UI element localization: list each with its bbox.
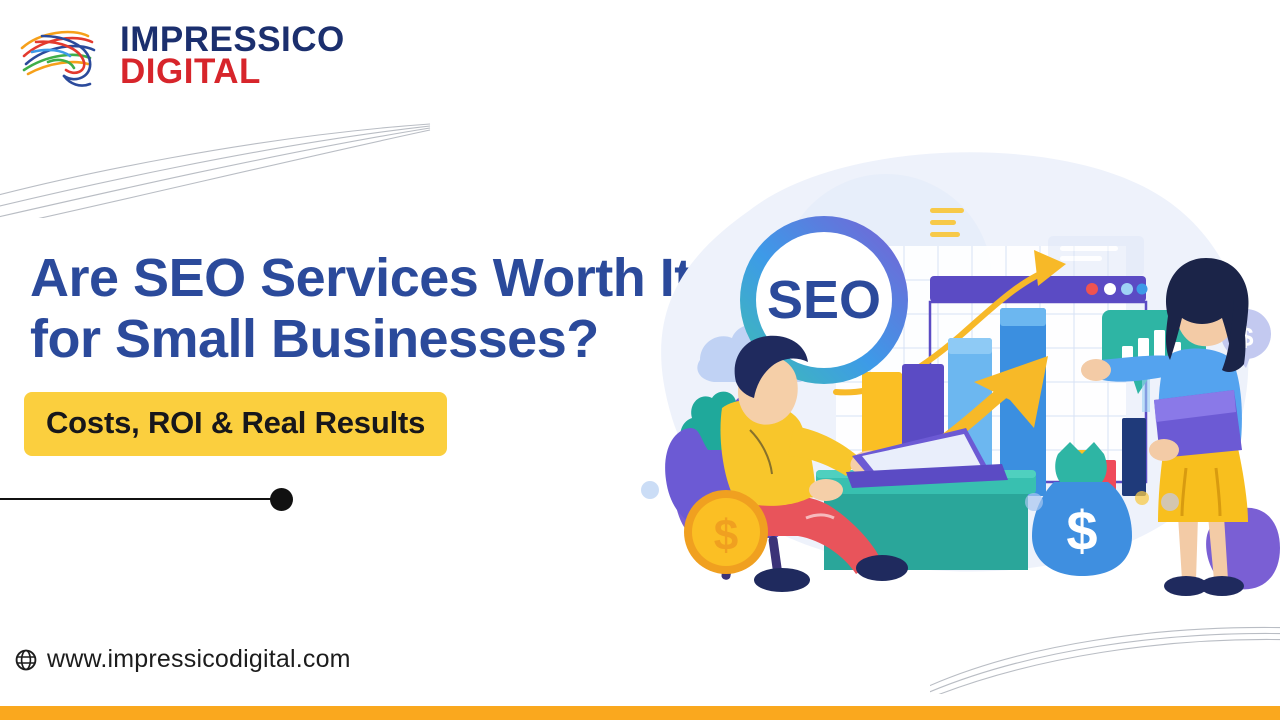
bar-small-navy (1122, 418, 1146, 496)
accent-rule (0, 484, 300, 514)
banner-canvas: IMPRESSICO DIGITAL Are SEO Services Wort… (0, 0, 1280, 720)
subtitle-badge: Costs, ROI & Real Results (24, 392, 447, 456)
brand-name-secondary: DIGITAL (120, 56, 345, 88)
coin-dollar-symbol: $ (714, 511, 738, 560)
money-bag-dollar-symbol: $ (1066, 499, 1097, 562)
brand-logo[interactable]: IMPRESSICO DIGITAL (18, 18, 345, 94)
browser-window-faint (1048, 236, 1144, 276)
footer-accent-bar (0, 706, 1280, 720)
website-url-text: www.impressicodigital.com (47, 645, 351, 674)
gold-coin: $ (684, 490, 768, 574)
brand-wordmark: IMPRESSICO DIGITAL (120, 24, 345, 88)
accent-rule-line (0, 498, 282, 500)
decorative-swoosh-top (0, 78, 480, 218)
impressico-swoosh-logo-icon (18, 18, 110, 94)
magnifier-label: SEO (767, 270, 881, 330)
seo-analytics-illustration: SEO (630, 150, 1280, 610)
website-url[interactable]: www.impressicodigital.com (14, 645, 351, 674)
globe-icon (14, 648, 38, 672)
accent-rule-dot (270, 488, 293, 511)
decorative-swoosh-bottom (930, 604, 1280, 694)
